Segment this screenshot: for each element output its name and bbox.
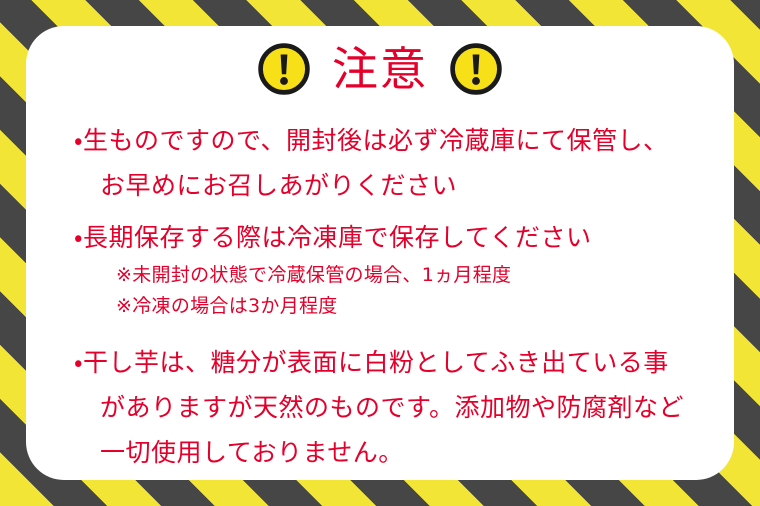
bullet-text-line: がありますが天然のものです。添加物や防腐剤など <box>74 385 704 430</box>
bullet-note-line: ※未開封の状態で冷蔵保管の場合、1ヵ月程度 <box>74 260 704 291</box>
notice-bullet-3: ・干し芋は、糖分が表面に白粉としてふき出ている事 がありますが天然のものです。添… <box>74 340 704 475</box>
bullet-note-line: ※冷凍の場合は3か月程度 <box>74 291 704 322</box>
notice-bullet-1: ・生ものですので、開封後は必ず冷蔵庫にて保管し、 お早めにお召しあがりください <box>74 118 704 208</box>
notice-body: ・生ものですので、開封後は必ず冷蔵庫にて保管し、 お早めにお召しあがりください … <box>74 118 704 472</box>
notice-poster: 注意 ・生ものですので、開封後は必ず冷蔵庫にて保管し、 お早めにお召しあがりくだ… <box>0 0 760 506</box>
spacer <box>74 322 704 340</box>
bullet-text-line: ・長期保存する際は冷凍庫で保存してください <box>74 215 704 260</box>
notice-card: 注意 ・生ものですので、開封後は必ず冷蔵庫にて保管し、 お早めにお召しあがりくだ… <box>26 26 734 480</box>
title-row: 注意 <box>26 34 734 104</box>
bullet-text-line: 一切使用しておりません。 <box>74 430 704 475</box>
bullet-text-line: お早めにお召しあがりください <box>74 163 704 208</box>
warning-exclamation-icon <box>450 43 502 95</box>
spacer <box>74 208 704 215</box>
page-title: 注意 <box>332 46 428 92</box>
bullet-text-line: ・干し芋は、糖分が表面に白粉としてふき出ている事 <box>74 340 704 385</box>
notice-bullet-2: ・長期保存する際は冷凍庫で保存してください ※未開封の状態で冷蔵保管の場合、1ヵ… <box>74 215 704 322</box>
bullet-text-line: ・生ものですので、開封後は必ず冷蔵庫にて保管し、 <box>74 118 704 163</box>
warning-exclamation-icon <box>258 43 310 95</box>
